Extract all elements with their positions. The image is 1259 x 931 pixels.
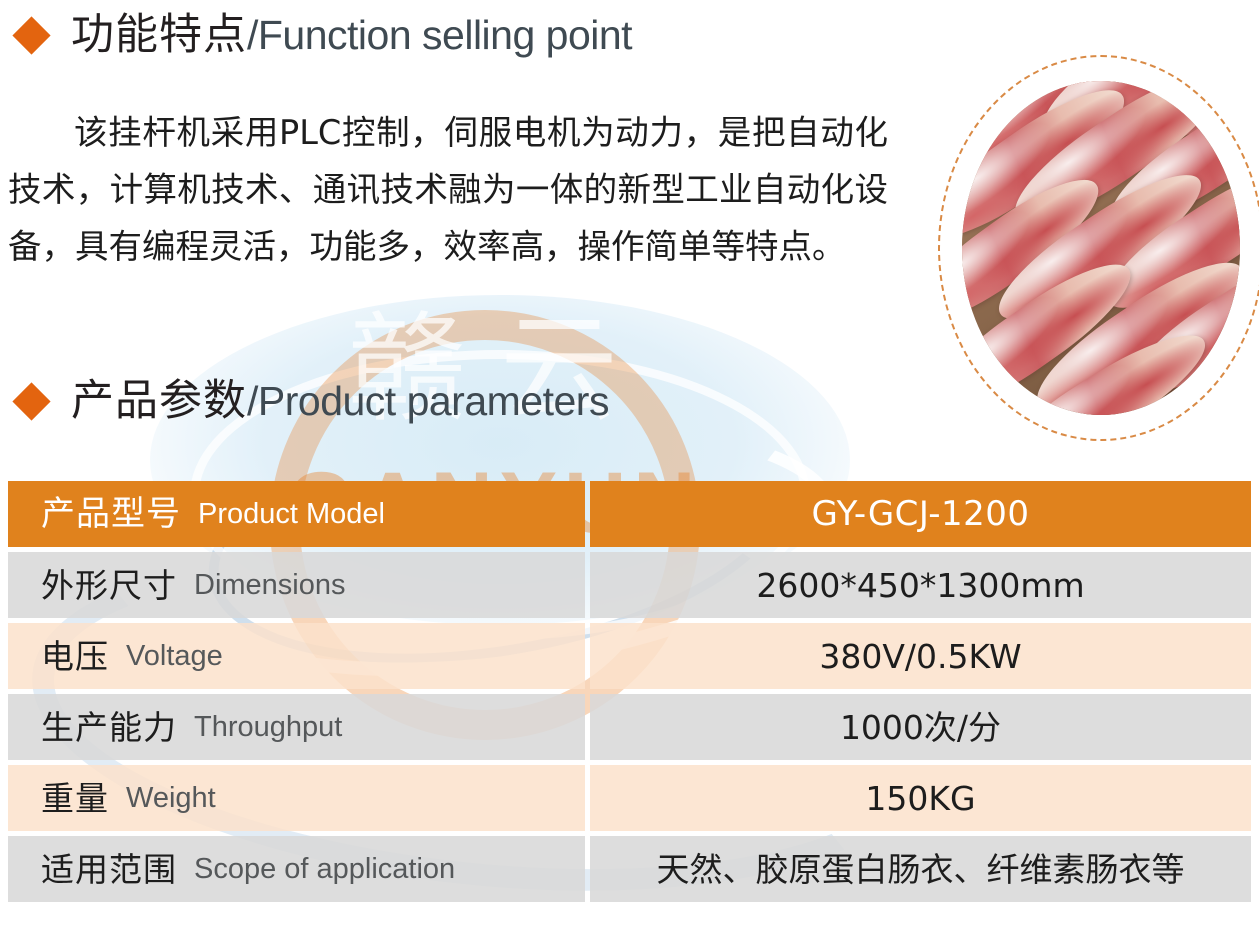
value-text: 380V/0.5KW (819, 640, 1021, 673)
table-row: 重量 Weight 150KG (8, 765, 1251, 831)
section-heading-parameters: 产品参数 /Product parameters (14, 380, 609, 423)
label-cn: 适用范围 (41, 853, 177, 886)
table-row: 生产能力 Throughput 1000次/分 (8, 694, 1251, 760)
table-cell-label: 重量 Weight (8, 765, 585, 831)
product-parameters-table: 产品型号 Product Model GY-GCJ-1200 外形尺寸 Dime… (8, 481, 1251, 902)
label-en: Dimensions (194, 571, 346, 600)
table-cell-label: 产品型号 Product Model (8, 481, 585, 547)
function-description-paragraph: 该挂杆机采用PLC控制，伺服电机为动力，是把自动化技术，计算机技术、通讯技术融为… (8, 104, 888, 275)
photo-image-circle (962, 81, 1240, 415)
label-cn: 重量 (41, 782, 109, 815)
table-cell-label: 电压 Voltage (8, 623, 585, 689)
table-cell-label: 适用范围 Scope of application (8, 836, 585, 902)
table-cell-value: 1000次/分 (590, 694, 1251, 760)
table-cell-value: 380V/0.5KW (590, 623, 1251, 689)
label-en: Product Model (198, 500, 385, 529)
heading-parameters-en: /Product parameters (247, 381, 609, 422)
value-text: 150KG (865, 782, 975, 815)
label-en: Weight (126, 784, 216, 813)
label-en: Voltage (126, 642, 223, 671)
table-cell-value: GY-GCJ-1200 (590, 481, 1251, 547)
label-en: Throughput (194, 713, 342, 742)
table-row: 外形尺寸 Dimensions 2600*450*1300mm (8, 552, 1251, 618)
label-cn: 产品型号 (41, 497, 181, 531)
table-row: 电压 Voltage 380V/0.5KW (8, 623, 1251, 689)
label-cn: 生产能力 (41, 711, 177, 744)
table-row: 适用范围 Scope of application 天然、胶原蛋白肠衣、纤维素肠… (8, 836, 1251, 902)
heading-function-cn: 功能特点 (71, 14, 247, 57)
table-cell-label: 生产能力 Throughput (8, 694, 585, 760)
section-heading-function: 功能特点 /Function selling point (14, 14, 632, 57)
value-text: 2600*450*1300mm (756, 569, 1084, 602)
value-text: 天然、胶原蛋白肠衣、纤维素肠衣等 (657, 853, 1185, 886)
label-cn: 外形尺寸 (41, 569, 177, 602)
diamond-bullet-icon (12, 16, 50, 54)
table-cell-value: 天然、胶原蛋白肠衣、纤维素肠衣等 (590, 836, 1251, 902)
table-cell-label: 外形尺寸 Dimensions (8, 552, 585, 618)
product-photo (938, 55, 1259, 445)
table-cell-value: 2600*450*1300mm (590, 552, 1251, 618)
value-text: GY-GCJ-1200 (811, 497, 1029, 531)
table-row: 产品型号 Product Model GY-GCJ-1200 (8, 481, 1251, 547)
value-text: 1000次/分 (840, 711, 1001, 744)
label-en: Scope of application (194, 855, 455, 884)
label-cn: 电压 (41, 640, 109, 673)
heading-function-en: /Function selling point (247, 15, 632, 56)
table-cell-value: 150KG (590, 765, 1251, 831)
diamond-bullet-icon (12, 382, 50, 420)
heading-parameters-cn: 产品参数 (71, 380, 247, 423)
